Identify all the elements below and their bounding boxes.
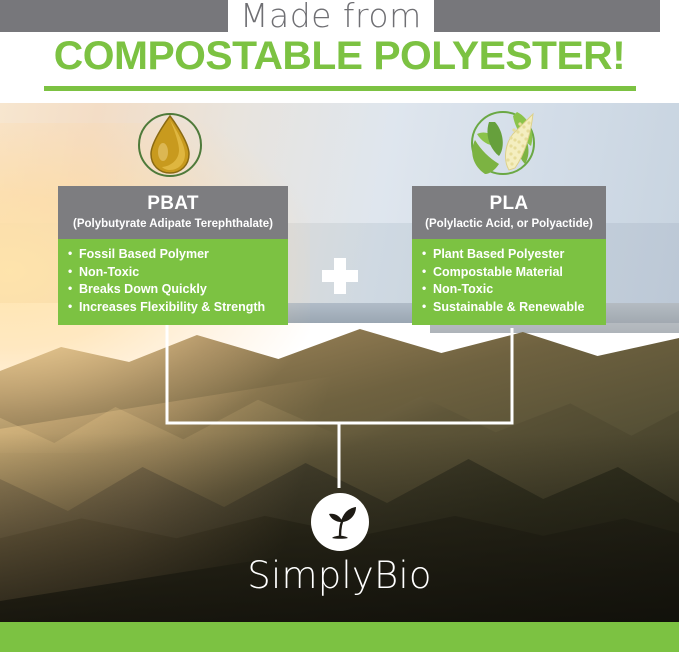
list-item: Breaks Down Quickly [68,281,278,299]
brand-name: SimplyBio [0,554,679,598]
footer-bar [0,622,679,652]
header: Made from COMPOSTABLE POLYESTER! [0,0,679,103]
list-item: Fossil Based Polymer [68,246,278,264]
card-pbat-body: Fossil Based Polymer Non-Toxic Breaks Do… [58,239,288,325]
card-pla-bullet-list: Plant Based Polyester Compostable Materi… [422,246,596,316]
eyebrow-row: Made from [0,0,679,32]
card-pla-body: Plant Based Polyester Compostable Materi… [412,239,606,325]
eyebrow-text: Made from [228,0,434,32]
card-pbat-bullet-list: Fossil Based Polymer Non-Toxic Breaks Do… [68,246,278,316]
list-item: Sustainable & Renewable [422,299,596,317]
list-item: Increases Flexibility & Strength [68,299,278,317]
list-item: Non-Toxic [422,281,596,299]
sprout-leaf-icon [310,492,370,552]
card-pla: PLA (Polylactic Acid, or Polyactide) Pla… [412,186,606,325]
oil-droplet-icon [133,108,207,182]
card-pbat-header: PBAT (Polybutyrate Adipate Terephthalate… [58,186,288,239]
card-pbat: PBAT (Polybutyrate Adipate Terephthalate… [58,186,288,325]
list-item: Plant Based Polyester [422,246,596,264]
card-pbat-subtitle: (Polybutyrate Adipate Terephthalate) [64,217,282,232]
promo-graphic: Made from COMPOSTABLE POLYESTER! [0,0,679,652]
plus-icon [322,258,358,294]
card-pbat-title: PBAT [64,193,282,215]
header-bar-right [434,0,660,32]
list-item: Non-Toxic [68,264,278,282]
header-bar-left [0,0,228,32]
corn-cob-icon [455,104,551,182]
card-pla-title: PLA [418,193,600,215]
headline-underline [44,86,636,91]
brand-logo: SimplyBio [0,492,679,598]
card-pla-header: PLA (Polylactic Acid, or Polyactide) [412,186,606,239]
list-item: Compostable Material [422,264,596,282]
page-title: COMPOSTABLE POLYESTER! [0,34,679,79]
card-pla-subtitle: (Polylactic Acid, or Polyactide) [418,217,600,232]
